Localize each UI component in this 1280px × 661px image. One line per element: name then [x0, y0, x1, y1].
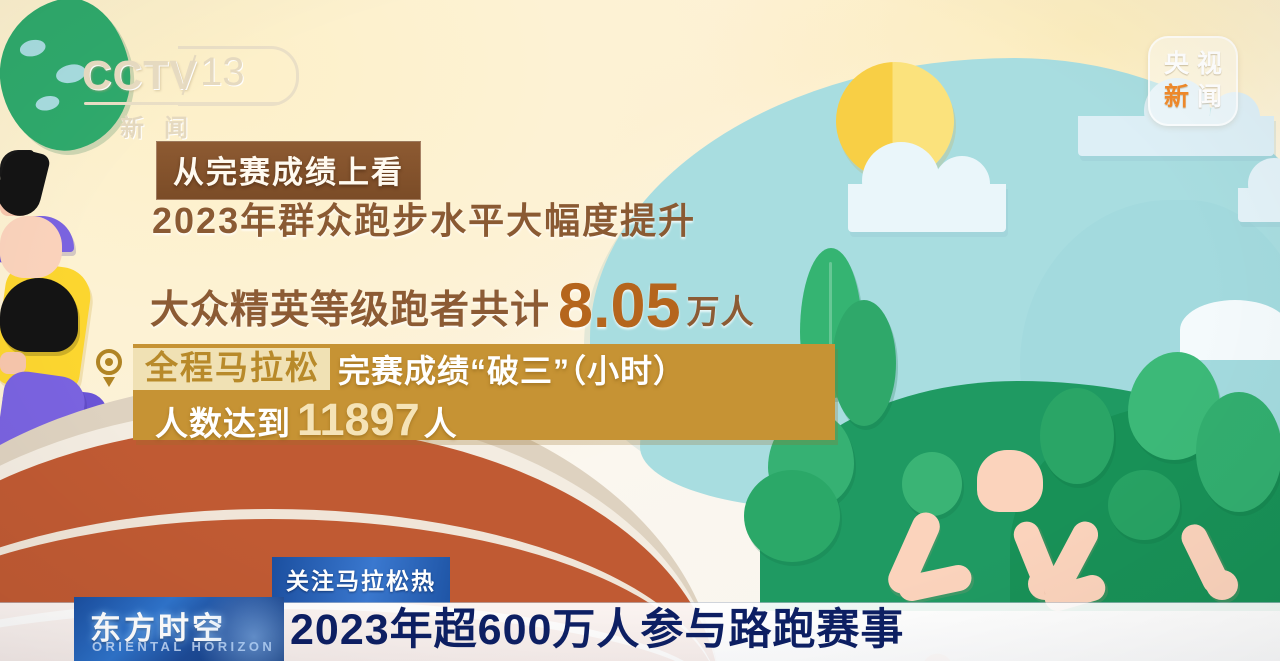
location-pin-icon [96, 349, 124, 389]
highlight-row-2-number: 11897 [297, 394, 420, 446]
highlight-row-1: 全程马拉松 完赛成绩“破三”（小时） [133, 346, 686, 392]
female-hair [0, 278, 78, 352]
highlight-row-1-text: 完赛成绩“破三”（小时） [330, 346, 686, 392]
cctv-logo-cn-label: 新闻 [120, 108, 208, 143]
leaf-icon-small-2 [1108, 470, 1180, 540]
stat-unit: 万人 [687, 285, 755, 333]
leaf-icon-left-2 [744, 470, 840, 562]
female-hand-right [1206, 570, 1238, 600]
watermark-char-3: 新 [1164, 85, 1189, 110]
news-headline: 2023年超600万人参与路跑赛事 [290, 595, 904, 657]
female-head [0, 216, 62, 278]
marathon-highlight-box: 全程马拉松 完赛成绩“破三”（小时） 人数达到 11897 人 [133, 344, 835, 440]
highlight-row-2-prefix: 人数达到 [155, 397, 291, 445]
highlight-row-2: 人数达到 11897 人 [155, 394, 458, 438]
pin-dot [105, 358, 113, 366]
stat-number: 8.05 [558, 270, 681, 342]
cctv-logo-number: 13 [200, 50, 245, 95]
highlight-row-2-suffix: 人 [424, 397, 458, 445]
program-name-en: ORIENTAL HORIZON [92, 639, 275, 654]
cloud-icon-c [1238, 188, 1280, 222]
cctv13-channel-logo: CCTV 13 新闻 [82, 52, 296, 134]
leaf-icon-right-2 [1196, 392, 1280, 512]
section-subtitle: 2023年群众跑步水平大幅度提升 [152, 192, 696, 244]
leaf-icon-right-3 [1040, 388, 1114, 484]
watermark-char-1: 央 [1164, 52, 1189, 77]
stat-prefix: 大众精英等级跑者共计 [150, 279, 550, 335]
cctv-logo-text: CCTV [82, 52, 198, 99]
cloud-icon-d [1180, 300, 1280, 360]
program-logo: 东方时空 ORIENTAL HORIZON [74, 597, 284, 661]
watermark-char-2: 视 [1197, 52, 1222, 77]
cctv-news-watermark: 央 视 新 闻 [1148, 36, 1238, 126]
leaf-icon-small-1 [902, 452, 962, 516]
watermark-char-4: 闻 [1197, 85, 1222, 110]
elite-runner-stat-line: 大众精英等级跑者共计 8.05 万人 [150, 266, 755, 338]
leaf-icon-tall-2 [832, 300, 896, 426]
pin-tip [103, 377, 115, 387]
female-ponytail [0, 146, 51, 221]
marathon-type-label: 全程马拉松 [133, 348, 330, 391]
broadcast-screen: CCTV 13 新闻 央 视 新 闻 从完赛成绩上看 2023年群众跑步水平大幅… [0, 0, 1280, 661]
male-head [977, 450, 1043, 512]
cloud-icon-a [848, 184, 1006, 232]
cctv-logo-underline [84, 102, 280, 105]
